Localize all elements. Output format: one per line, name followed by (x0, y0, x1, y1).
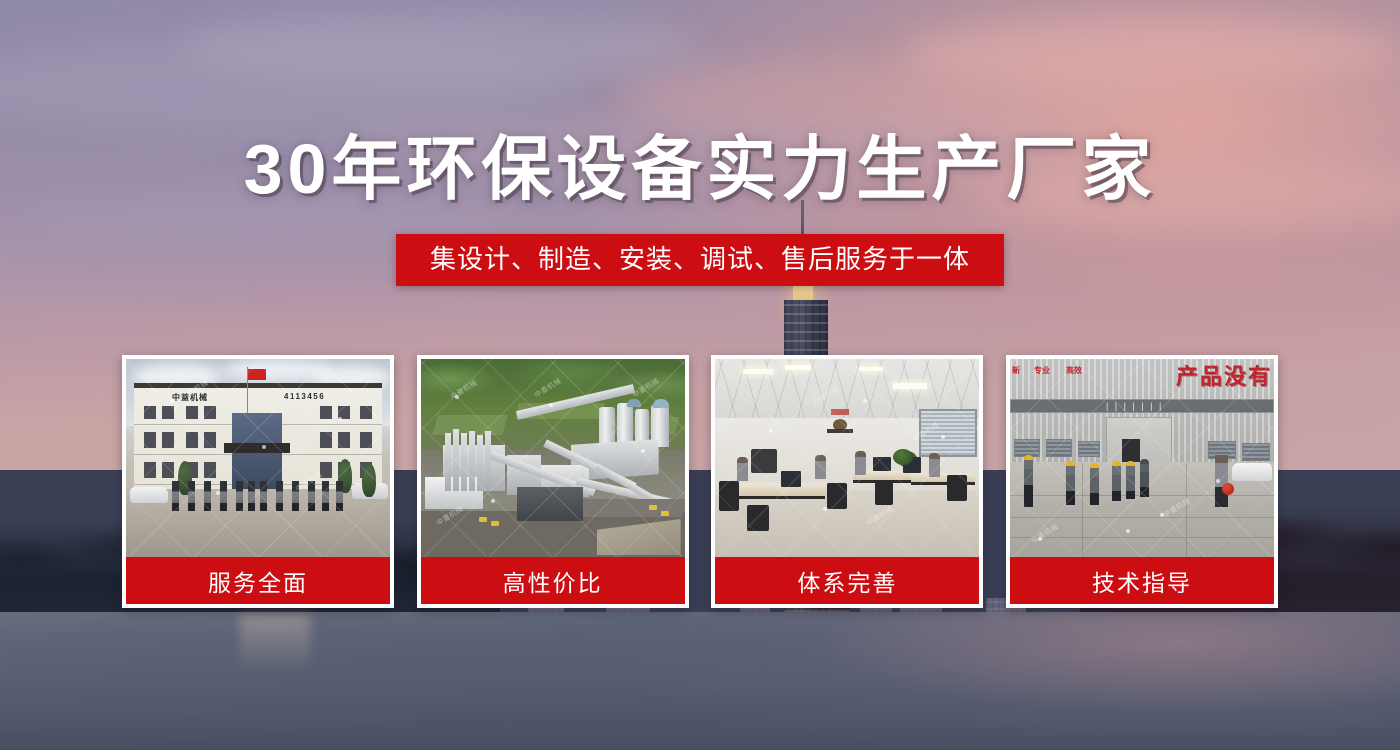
water-reflection (240, 614, 310, 674)
cloud-decoration (900, 18, 1400, 84)
card-label: 技术指导 (1010, 557, 1274, 604)
factory-slogan-1: 新 (1012, 365, 1020, 376)
feature-card[interactable]: 中蓋机械 中蓋机械 中蓋机械 中蓋机械 高性价比 (417, 355, 689, 608)
parked-car (1232, 463, 1272, 481)
flag (248, 369, 266, 380)
subtitle-banner: 集设计、制造、安装、调试、售后服务于一体 (396, 234, 1004, 286)
feature-card[interactable]: 中蓋机械 4113456 (122, 355, 394, 608)
card-label: 体系完善 (715, 557, 979, 604)
card-image-workers-factory: 产品没有 新 专业 高效 | | | | | | | (1010, 359, 1274, 557)
factory-slogan-3: 高效 (1066, 365, 1082, 376)
promo-banner: 30年环保设备实力生产厂家 集设计、制造、安装、调试、售后服务于一体 中蓋机械 … (0, 0, 1400, 750)
card-image-office-interior: 中蓋机械 中蓋机械 中蓋机械 (715, 359, 979, 557)
card-label: 服务全面 (126, 557, 390, 604)
factory-banner-text: 产品没有 (1176, 359, 1272, 391)
wall-decal (823, 407, 857, 437)
factory-slogan-2: 专业 (1034, 365, 1050, 376)
factory-band-marks: | | | | | | | (1106, 401, 1163, 411)
building-phone-text: 4113456 (284, 392, 325, 401)
feature-card[interactable]: 产品没有 新 专业 高效 | | | | | | | (1006, 355, 1278, 608)
feature-card[interactable]: 中蓋机械 中蓋机械 中蓋机械 体系完善 (711, 355, 983, 608)
page-title: 30年环保设备实力生产厂家 (0, 132, 1400, 206)
parked-car (130, 487, 168, 503)
feature-card-row: 中蓋机械 4113456 (122, 355, 1278, 608)
card-image-company-building: 中蓋机械 4113456 (126, 359, 390, 557)
subtitle-container: 集设计、制造、安装、调试、售后服务于一体 (0, 234, 1400, 286)
cloud-decoration (180, 12, 700, 82)
red-helmet (1222, 483, 1234, 495)
card-image-industrial-plant: 中蓋机械 中蓋机械 中蓋机械 中蓋机械 (421, 359, 685, 557)
water-sheen (0, 612, 1400, 750)
card-label: 高性价比 (421, 557, 685, 604)
